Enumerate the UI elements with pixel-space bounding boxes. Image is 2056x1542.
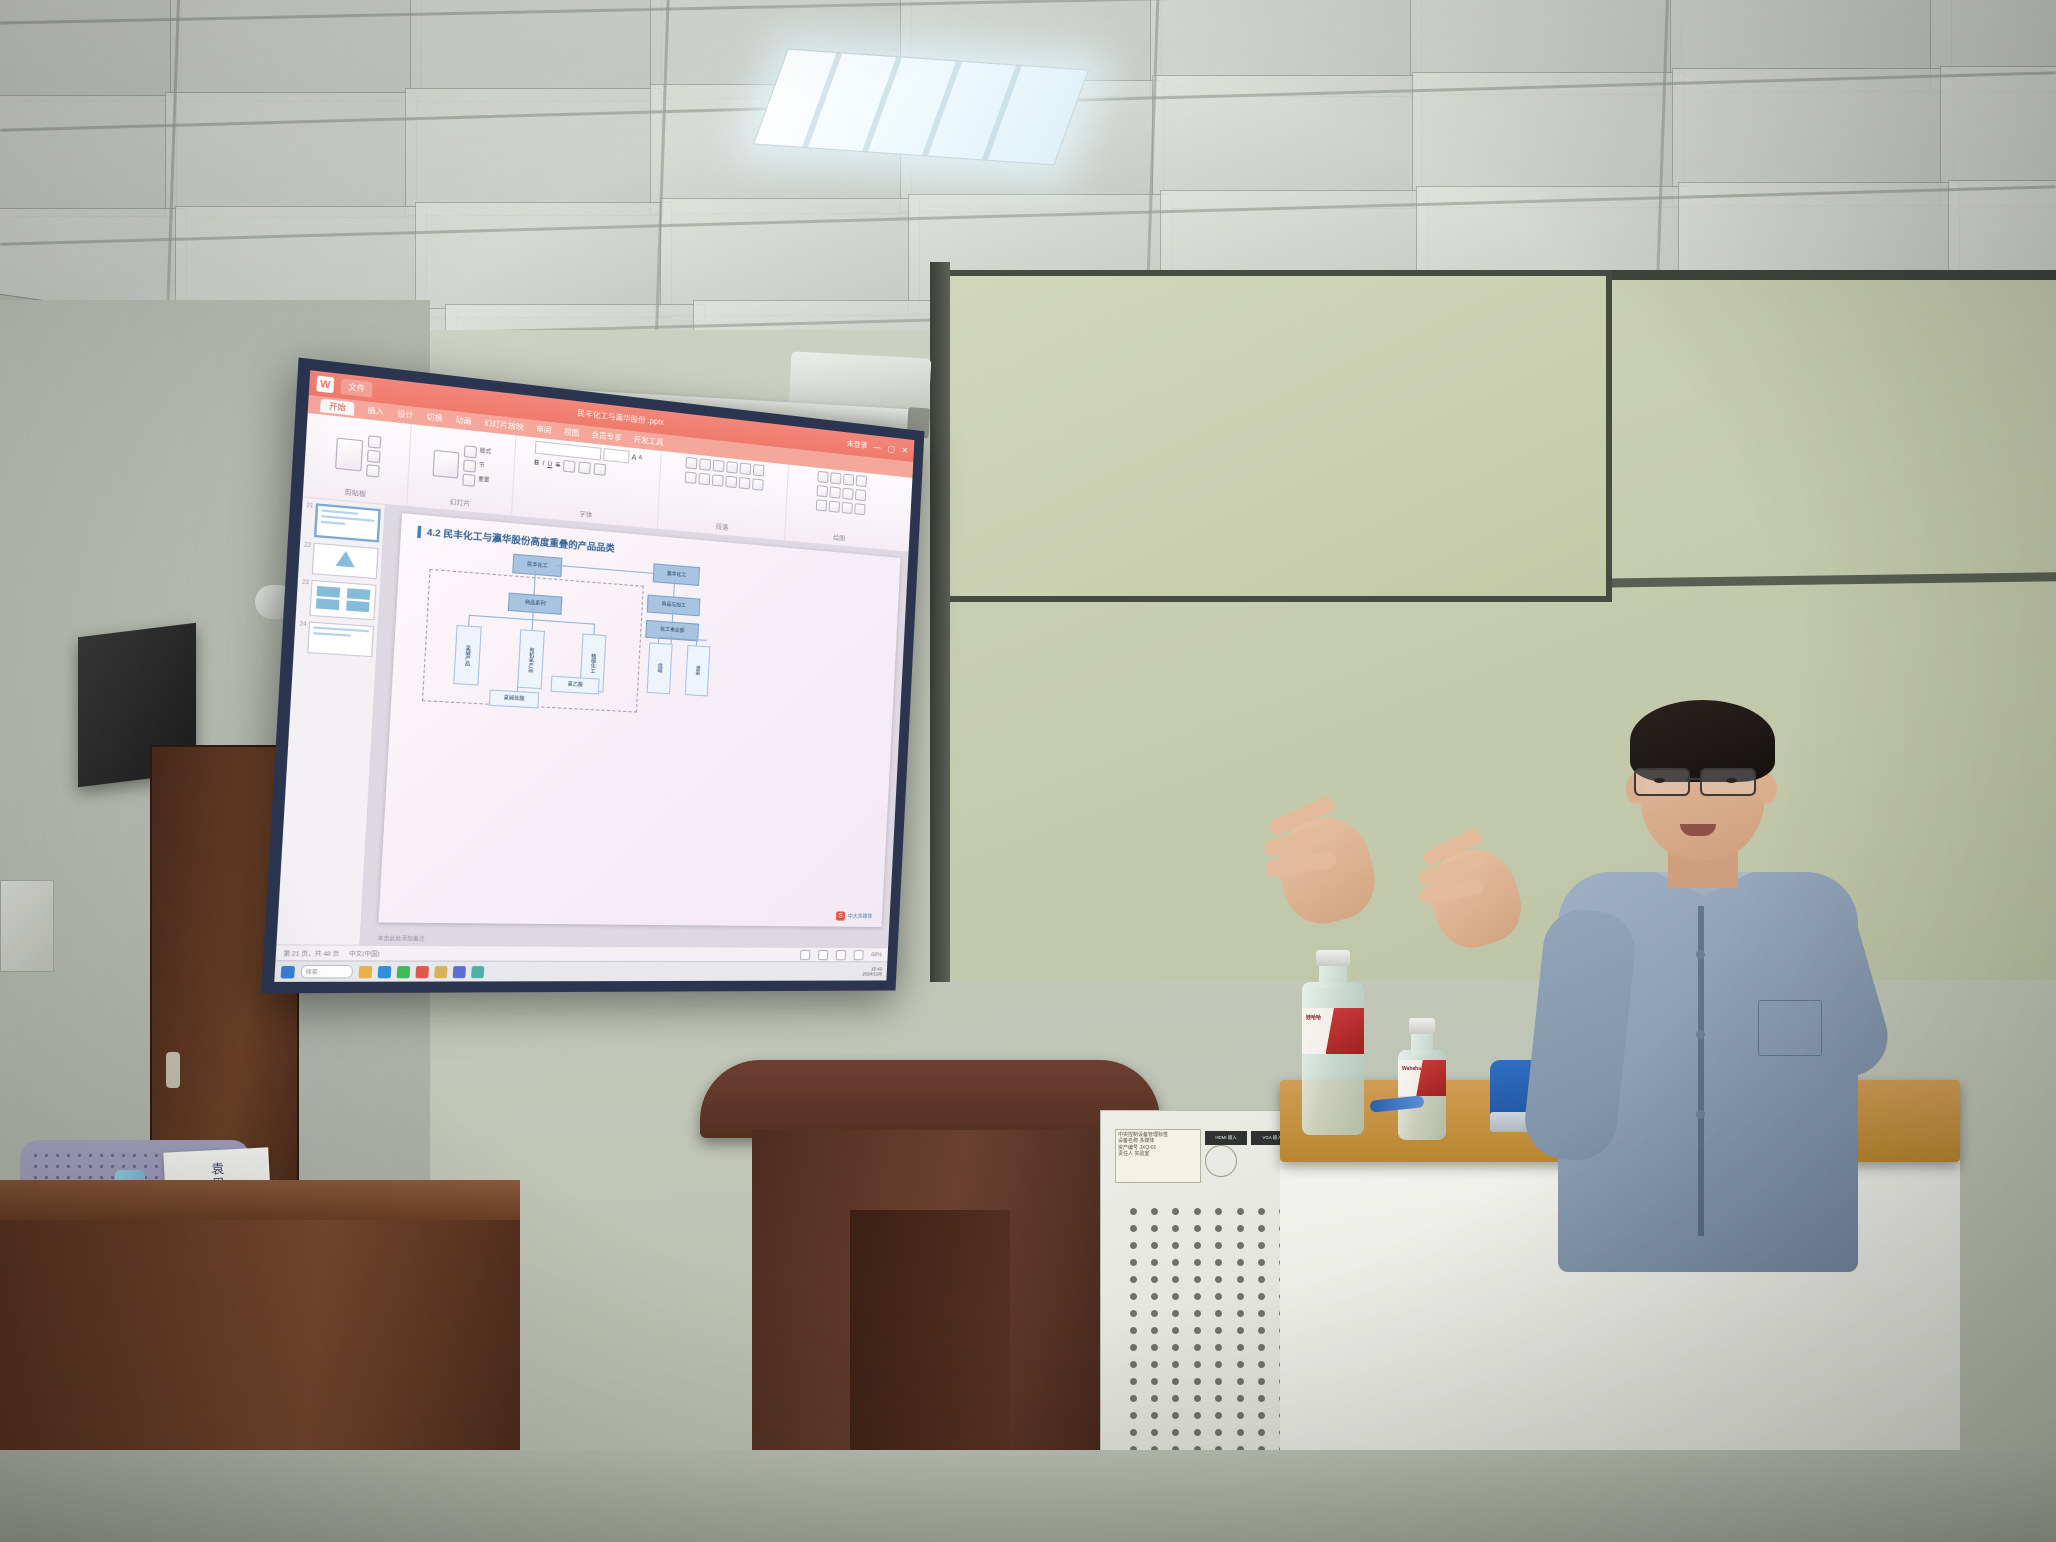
ribbon-tab-devtools[interactable]: 开发工具 <box>633 434 663 448</box>
line-spacing-icon[interactable] <box>739 463 751 476</box>
font-shrink-icon[interactable]: A <box>638 455 642 462</box>
slide-thumbnail-number: 22 <box>302 542 311 574</box>
ribbon-tab-slideshow[interactable]: 幻灯片放映 <box>484 418 524 433</box>
port-strip-hdmi[interactable]: HDMI 输入 <box>1205 1131 1247 1145</box>
close-icon[interactable]: ✕ <box>901 445 908 455</box>
shape-callout-icon[interactable] <box>829 501 840 513</box>
highlight-icon[interactable] <box>579 461 592 474</box>
shape-triangle-icon[interactable] <box>829 486 840 498</box>
copy-icon[interactable] <box>366 450 380 464</box>
shape-line-icon[interactable] <box>830 472 841 484</box>
view-slideshow-icon[interactable] <box>853 950 863 960</box>
browser-icon[interactable] <box>378 965 392 977</box>
diagram-node-g: 液氯 <box>685 645 711 697</box>
media-icon[interactable] <box>471 966 484 978</box>
mail-icon[interactable] <box>453 966 466 978</box>
ribbon-group-drawing-label: 绘图 <box>833 533 845 543</box>
font-color-icon[interactable] <box>594 463 607 476</box>
zoom-level[interactable]: 68% <box>871 952 882 958</box>
quick-style-icon[interactable] <box>841 502 852 514</box>
asset-label-line: 责任人 实验室 <box>1118 1151 1198 1157</box>
bottle-brand-text: 娃哈哈 <box>1306 1014 1321 1021</box>
current-slide[interactable]: 4.2 民丰化工与瀛华股份高度重叠的产品品类 民丰化工 瀛华化工 <box>378 513 900 927</box>
view-reading-icon[interactable] <box>836 950 846 960</box>
explorer-icon[interactable] <box>359 965 373 977</box>
ribbon-group-paragraph[interactable]: 段落 <box>658 451 789 540</box>
layout-icon[interactable] <box>464 445 477 458</box>
notes-placeholder[interactable]: 单击此处添加备注 <box>377 935 425 943</box>
slide-canvas[interactable]: 4.2 民丰化工与瀛华股份高度重叠的产品品类 民丰化工 瀛华化工 <box>360 505 908 947</box>
slide-thumbnail[interactable]: 24 <box>297 621 374 657</box>
bottle-label: 娃哈哈 <box>1302 1008 1364 1054</box>
door-handle[interactable] <box>166 1052 180 1088</box>
indent-increase-icon[interactable] <box>726 461 738 474</box>
ribbon-tab-home[interactable]: 开始 <box>320 399 355 416</box>
wps-taskbar-icon[interactable] <box>415 966 429 978</box>
file-menu-button[interactable]: 文件 <box>341 378 373 397</box>
ribbon-tab-view[interactable]: 视图 <box>564 427 580 439</box>
diagram-node-root-right: 瀛华化工 <box>653 563 700 586</box>
diagram-node-e: 氯乙酸 <box>550 676 599 695</box>
start-button-icon[interactable] <box>281 965 295 978</box>
bottle-cap-icon[interactable] <box>1316 950 1351 966</box>
wps-presentation-window: W 文件 民丰化工与瀛华股份 .pptx 未登录 — ▢ ✕ 开始 插入 <box>274 370 914 982</box>
shape-star-icon[interactable] <box>816 499 828 511</box>
diagram-node-root-left: 民丰化工 <box>512 554 562 577</box>
ribbon-group-slides-label: 幻灯片 <box>449 497 470 509</box>
diagram-node-d: 氯碱盐酸 <box>489 689 540 708</box>
presenter-shirt-pocket <box>1758 1000 1822 1056</box>
view-sorter-icon[interactable] <box>818 949 828 959</box>
bold-icon[interactable]: B <box>534 460 539 467</box>
text-direction-icon[interactable] <box>753 464 765 476</box>
slide-thumbnail-number: 23 <box>299 579 308 616</box>
bottle-cap-icon[interactable] <box>1409 1018 1436 1034</box>
slide-watermark: S 中大多媒体 <box>836 911 873 921</box>
status-bar[interactable]: 第 21 页，共 48 页 中文(中国) 68% <box>276 944 889 961</box>
presenter-person <box>1530 700 1950 1260</box>
indent-decrease-icon[interactable] <box>713 460 725 473</box>
ribbon-group-font[interactable]: A A B I U S <box>512 435 662 528</box>
ribbon-group-slides[interactable]: 版式 节 重置 幻灯片 <box>407 424 516 515</box>
ceiling-light-far <box>753 49 1089 166</box>
ribbon-group-paragraph-label: 段落 <box>716 522 729 532</box>
maximize-icon[interactable]: ▢ <box>887 444 895 454</box>
ribbon-tab-design[interactable]: 设计 <box>397 408 414 421</box>
asset-label: 中央控制设备管理标签 设备名称 多媒体 资产编号 JXQ-01 责任人 实验室 <box>1115 1129 1201 1183</box>
ribbon-tab-animation[interactable]: 动画 <box>455 415 472 428</box>
sliding-board-panel <box>940 270 1612 602</box>
wall-control-panel[interactable] <box>0 880 54 972</box>
slide-thumbnail-number: 24 <box>297 621 306 653</box>
ribbon-group-font-label: 字体 <box>579 509 593 520</box>
diagram-node-f: 烧碱 <box>647 642 673 694</box>
slide-thumbnail-number: 21 <box>304 502 313 536</box>
section-icon[interactable] <box>464 459 477 472</box>
windows-taskbar[interactable]: 搜索 15:42 2024/11/8 <box>274 960 887 982</box>
lectern-top <box>700 1060 1160 1138</box>
new-slide-icon[interactable] <box>433 449 460 478</box>
underline-icon[interactable]: U <box>547 461 552 468</box>
window-controls[interactable]: — ▢ ✕ <box>873 442 908 455</box>
editor-area: 21 22 23 <box>276 498 908 948</box>
bottle-label: Wahaha <box>1398 1060 1446 1096</box>
front-row-desk-top <box>0 1180 520 1220</box>
format-painter-icon[interactable] <box>365 464 379 478</box>
ribbon-group-clipboard[interactable]: 剪贴板 <box>303 413 412 506</box>
shape-circle-icon[interactable] <box>817 485 829 497</box>
taskbar-clock[interactable]: 15:42 2024/11/8 <box>862 966 882 977</box>
watermark-logo-icon: S <box>836 911 845 920</box>
taskbar-search-input[interactable]: 搜索 <box>300 965 353 979</box>
align-left-icon[interactable] <box>685 471 697 484</box>
diagram-node-a: 氯碱产品 <box>453 625 482 686</box>
slide-thumbnail[interactable]: 22 <box>302 542 379 579</box>
reset-icon[interactable] <box>463 474 476 487</box>
align-justify-icon[interactable] <box>725 476 737 489</box>
projection-screen: W 文件 民丰化工与瀛华股份 .pptx 未登录 — ▢ ✕ 开始 插入 <box>330 430 910 990</box>
shape-rect-icon[interactable] <box>817 471 828 483</box>
text-shadow-icon[interactable] <box>563 460 576 473</box>
bullets-icon[interactable] <box>685 457 697 470</box>
minimize-icon[interactable]: — <box>873 442 881 452</box>
floor <box>0 1450 2056 1542</box>
diagram-node-l1: 商品系列 <box>508 593 563 615</box>
board-left-edge <box>930 262 950 982</box>
align-right-icon[interactable] <box>712 474 724 487</box>
align-center-icon[interactable] <box>698 473 710 486</box>
ribbon-tab-review[interactable]: 审阅 <box>536 423 552 435</box>
ribbon-tab-transition[interactable]: 切换 <box>426 411 443 424</box>
small-water-bottle[interactable]: Wahaha <box>1398 1018 1446 1140</box>
ribbon-tab-insert[interactable]: 插入 <box>367 405 384 418</box>
italic-icon[interactable]: I <box>542 460 544 467</box>
shape-arrow-icon[interactable] <box>843 474 854 486</box>
inspection-stamp-icon <box>1205 1145 1237 1177</box>
watermark-text: 中大多媒体 <box>848 913 873 920</box>
ribbon-group-drawing[interactable]: 绘图 <box>785 465 895 550</box>
language-indicator[interactable]: 中文(中国) <box>349 949 380 958</box>
bottle-brand-text: Wahaha <box>1402 1066 1421 1072</box>
view-normal-icon[interactable] <box>800 949 811 959</box>
lecture-hall-photo: W 文件 民丰化工与瀛华股份 .pptx 未登录 — ▢ ✕ 开始 插入 <box>0 0 2056 1542</box>
smartart-icon[interactable] <box>752 478 764 490</box>
folder-icon[interactable] <box>434 966 447 978</box>
speaker-grille <box>1123 1203 1293 1483</box>
title-accent-bar <box>417 525 421 537</box>
slide-thumbnail[interactable]: 23 <box>299 579 376 620</box>
fill-color-icon[interactable] <box>842 488 853 500</box>
wechat-icon[interactable] <box>397 965 411 977</box>
outline-color-icon[interactable] <box>855 489 866 501</box>
large-water-bottle[interactable]: 娃哈哈 <box>1302 950 1364 1135</box>
paste-icon[interactable] <box>334 437 362 471</box>
wps-logo-icon: W <box>316 376 334 394</box>
columns-icon[interactable] <box>739 477 751 490</box>
effects-icon[interactable] <box>854 503 865 515</box>
cut-icon[interactable] <box>367 435 381 449</box>
strikethrough-icon[interactable]: S <box>556 462 561 469</box>
ribbon-tab-member[interactable]: 会员专享 <box>591 430 622 444</box>
ribbon-group-clipboard-label: 剪贴板 <box>344 487 366 499</box>
arrange-icon[interactable] <box>856 475 867 487</box>
slide-counter: 第 21 页，共 48 页 <box>283 948 340 957</box>
diagram-node-r1: 商品与加工 <box>647 595 701 617</box>
account-label[interactable]: 未登录 <box>847 438 868 450</box>
slide-thumbnail[interactable]: 21 <box>304 502 381 542</box>
font-grow-icon[interactable]: A <box>631 454 636 462</box>
clock-date: 2024/11/8 <box>862 971 882 976</box>
diagram-node-b: 有机氯产品 <box>517 629 545 689</box>
numbering-icon[interactable] <box>699 458 711 471</box>
slide-diagram: 民丰化工 瀛华化工 商品系列 商品与加工 化工事业部 <box>391 543 891 913</box>
